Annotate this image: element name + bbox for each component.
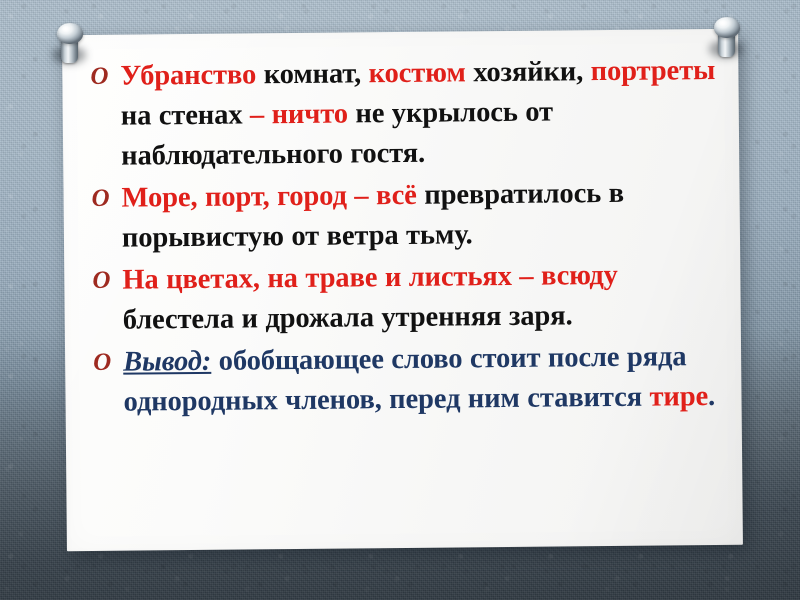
text-run: блестела и дрожала утренняя заря. [123,300,573,335]
bullet-item: OУбранство комнат, костюм хозяйки, портр… [88,51,717,177]
bullet-text: Вывод: обобщающее слово стоит после ряда… [123,337,720,423]
bullet-text: Море, порт, город – всё превратилось в п… [121,173,718,259]
text-run: Убранство [120,59,264,91]
text-run: портреты [591,55,716,87]
bullet-marker-icon: O [91,343,123,383]
text-run: комнат, [264,58,369,90]
pushpin-right-head [714,17,740,38]
pushpin-left-head [57,23,83,44]
bullet-marker-icon: O [88,57,120,97]
bullet-marker-icon: O [90,261,122,301]
bullet-item: OВывод: обобщающее слово стоит после ряд… [91,337,720,423]
text-run: ничто [271,98,355,130]
text-run: костюм [368,57,473,89]
bullet-marker-icon: O [89,179,121,219]
bullet-text: На цветах, на траве и листьях – всюду бл… [122,255,719,341]
pushpin-right-icon [705,12,749,64]
text-run: хозяйки, [473,56,591,88]
pushpin-left-icon [48,18,92,70]
text-run: на стенах [121,99,250,131]
text-run: – [250,99,272,130]
bullet-text: Убранство комнат, костюм хозяйки, портре… [120,51,717,177]
text-run: На цветах, на траве и листьях – всюду [122,260,618,296]
pushpin-right-highlight [719,20,728,27]
bullet-item: OНа цветах, на траве и листьях – всюду б… [90,255,719,341]
text-run: Вывод: [123,346,211,378]
pinned-paper-sheet: OУбранство комнат, костюм хозяйки, портр… [62,29,743,551]
slide-canvas: OУбранство комнат, костюм хозяйки, портр… [0,0,800,600]
bullet-item: OМоре, порт, город – всё превратилось в … [89,173,718,259]
pushpin-left-highlight [62,26,71,33]
text-run: тире [649,381,708,413]
text-run: Море, порт, город – всё [121,180,424,214]
bullet-list: OУбранство комнат, костюм хозяйки, портр… [88,51,720,425]
text-run: . [708,381,715,412]
